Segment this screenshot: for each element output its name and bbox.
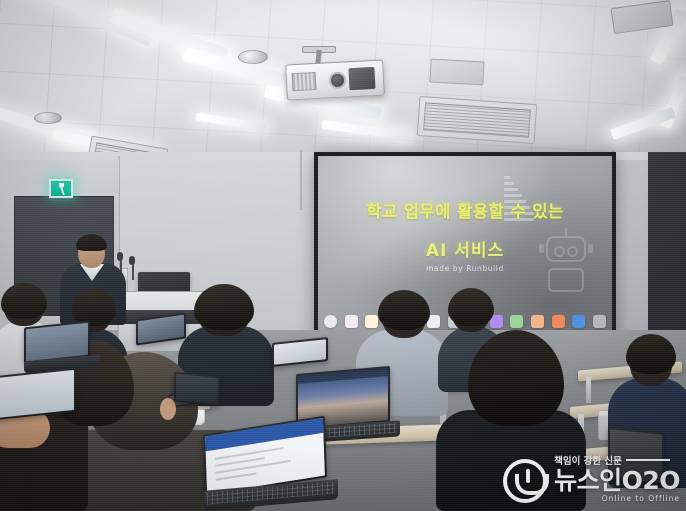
projector-body xyxy=(285,59,385,100)
profile-icon xyxy=(593,315,606,328)
wall-column-dark xyxy=(648,152,686,352)
wall-seam-2 xyxy=(300,150,302,210)
slide-title-line2: AI 서비스 xyxy=(318,236,612,261)
audience-4-hair xyxy=(378,290,430,330)
lecture-room-photo: 학교 업무에 활용할 수 있는 AI 서비스 made by Runbuild … xyxy=(0,0,686,511)
audience-2-hair xyxy=(72,288,116,326)
ac-vent-2 xyxy=(417,96,538,144)
audience-1-hair xyxy=(1,283,47,319)
slides-icon xyxy=(531,315,544,328)
watermark-brand: 뉴스인O2O xyxy=(554,468,680,493)
projector-panel xyxy=(348,67,375,90)
watermark-subtitle: Online to Offline xyxy=(602,494,680,503)
newsin-logo-icon xyxy=(503,459,547,503)
wall-panel-right xyxy=(612,160,652,350)
laptop-5-lid xyxy=(0,368,76,421)
blue-app-icon xyxy=(572,315,585,328)
watermark-rule xyxy=(626,459,670,461)
grid-icon xyxy=(552,315,565,328)
webpage-line-4 xyxy=(216,472,256,480)
audience-5-hair xyxy=(448,288,494,326)
emergency-exit-sign xyxy=(49,179,73,198)
webpage-line-1 xyxy=(215,447,283,460)
smoke-detector-1 xyxy=(238,50,268,64)
laptop-6-screen[interactable] xyxy=(138,315,184,343)
watermark-tagline-row: 책임이 강한 신문 xyxy=(554,453,670,467)
laptop-8-screen[interactable] xyxy=(176,374,218,404)
smoke-detector-2 xyxy=(34,112,62,124)
watermark-text-block: 책임이 강한 신문 뉴스인O2O Online to Offline xyxy=(554,453,680,503)
laptop-8-lid xyxy=(174,372,220,407)
desk-right-back-leg xyxy=(586,377,591,403)
audience-6-hair xyxy=(626,334,676,374)
projector-lens xyxy=(329,71,347,89)
laptop-7-screen[interactable] xyxy=(274,339,326,364)
laptop-5-screen[interactable] xyxy=(0,370,74,418)
watermark-tagline: 책임이 강한 신문 xyxy=(554,453,622,467)
audience-3-hair xyxy=(194,284,254,330)
projector-vent xyxy=(292,72,317,91)
ac-vent-3 xyxy=(429,59,484,86)
mic-head-2 xyxy=(129,256,135,265)
copilot-icon xyxy=(345,315,358,328)
exit-running-man-icon xyxy=(57,183,66,195)
mic-head-1 xyxy=(117,252,123,261)
openai-icon xyxy=(324,315,337,328)
gemini-icon xyxy=(365,315,378,328)
slide-subtitle: made by Runbuild xyxy=(318,264,612,273)
sheets-icon xyxy=(510,315,523,328)
audience-8-ear xyxy=(160,398,176,420)
news-watermark: 책임이 강한 신문 뉴스인O2O Online to Offline xyxy=(503,453,680,503)
slide-title-line1: 학교 업무에 활용할 수 있는 xyxy=(318,198,612,222)
